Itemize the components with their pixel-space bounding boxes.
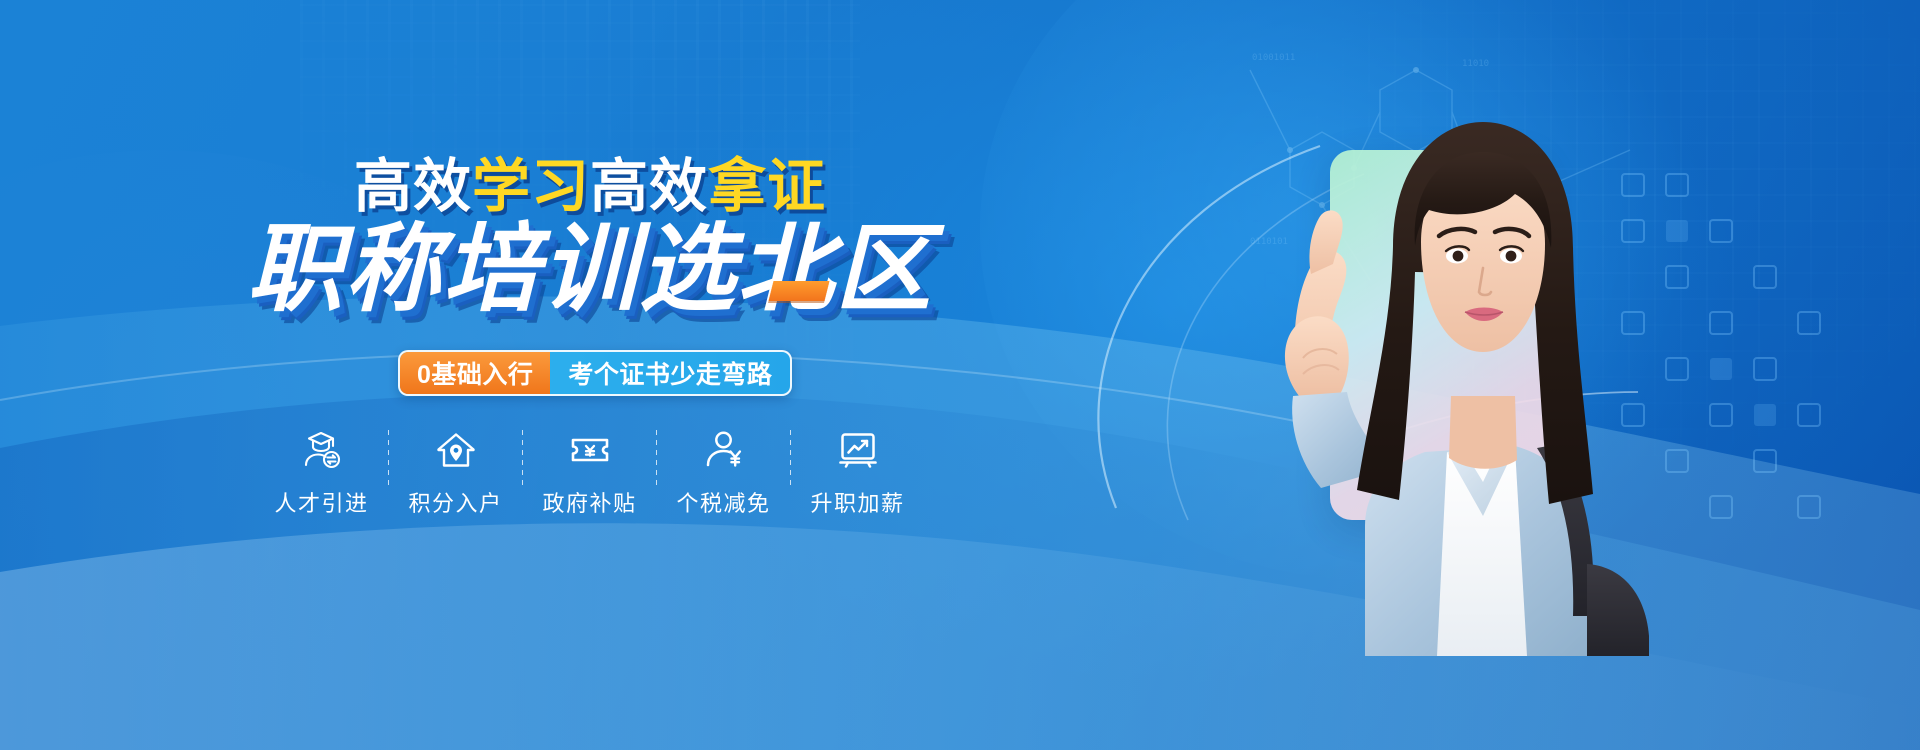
tagline-badge: 0基础入行 [400, 352, 550, 394]
subtitle-highlight-1: 学习 [472, 154, 590, 219]
feature-item-tax-relief[interactable]: 个税减免 [657, 428, 790, 518]
subtitle-part-1: 高效 [354, 154, 472, 219]
tagline-text: 考个证书少走弯路 [550, 352, 790, 394]
subtitle-part-2: 高效 [590, 154, 708, 219]
feature-label: 政府补贴 [542, 486, 636, 518]
feature-item-promotion[interactable]: 升职加薪 [791, 428, 924, 518]
banner-copy-block: 高效学习高效拿证 职称培训选北区 0基础入行 考个证书少走弯路 [0, 0, 1180, 750]
tagline-bar[interactable]: 0基础入行 考个证书少走弯路 [398, 350, 792, 396]
person-yuan-icon [703, 428, 745, 472]
svg-text:01001011: 01001011 [1252, 53, 1295, 63]
chart-board-icon [837, 428, 879, 472]
banner-main-title: 职称培训选北区 [0, 222, 1180, 318]
graduate-person-icon [301, 428, 343, 472]
feature-item-residency[interactable]: 积分入户 [389, 428, 522, 518]
feature-label: 人才引进 [274, 486, 368, 518]
title-orange-accent-icon [769, 281, 830, 301]
main-title-text: 职称培训选北区 [247, 222, 933, 318]
feature-item-subsidy[interactable]: 政府补贴 [523, 428, 656, 518]
subtitle-highlight-2: 拿证 [708, 154, 826, 219]
promo-banner: 01001011 11010 0110101 [0, 0, 1920, 750]
feature-item-talent[interactable]: 人才引进 [255, 428, 388, 518]
svg-text:11010: 11010 [1462, 59, 1489, 69]
ticket-yuan-icon [569, 428, 611, 472]
feature-label: 升职加薪 [810, 486, 904, 518]
house-pin-icon [435, 428, 477, 472]
feature-label: 个税减免 [676, 486, 770, 518]
feature-label: 积分入户 [408, 486, 502, 518]
feature-list: 人才引进 积分入户 [255, 428, 924, 518]
presenter-photo [1215, 96, 1695, 656]
banner-subtitle: 高效学习高效拿证 [0, 158, 1180, 216]
